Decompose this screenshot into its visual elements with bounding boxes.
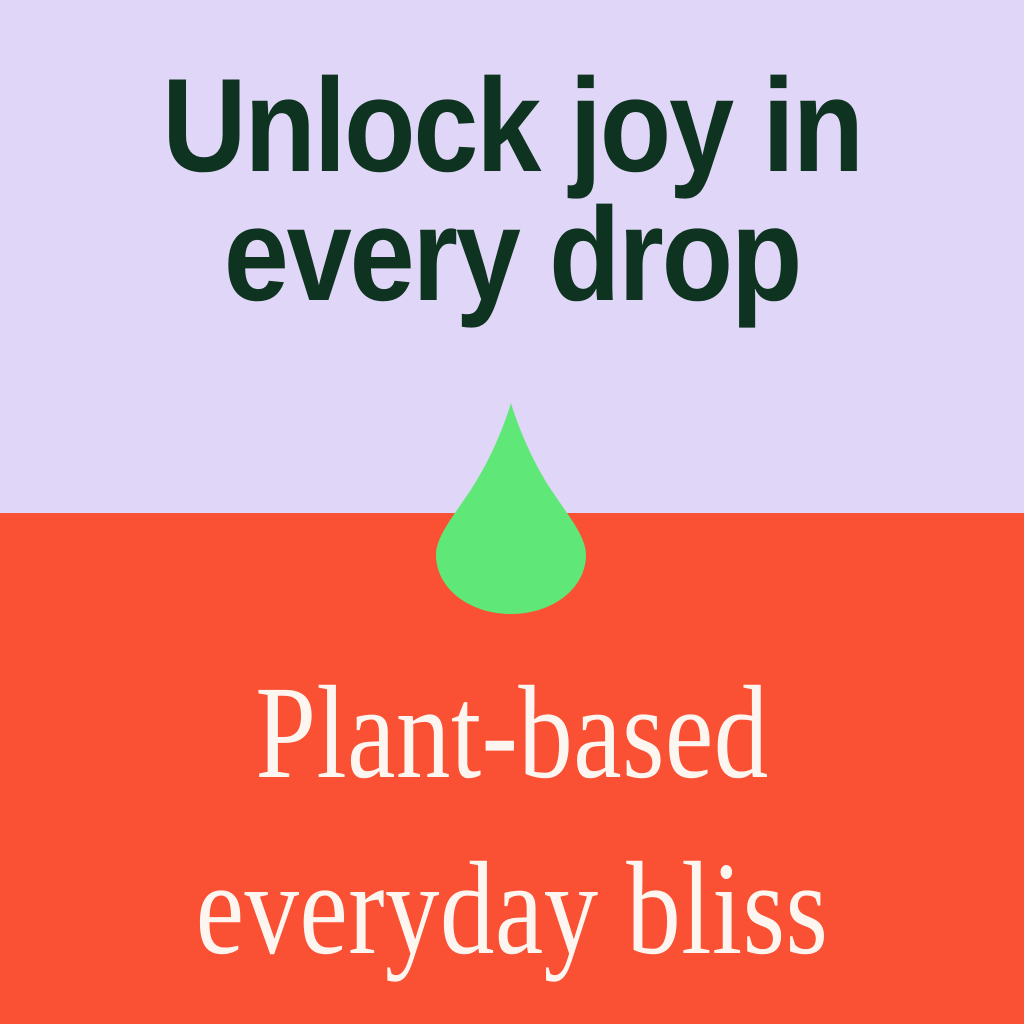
subheadline-line-1: Plant-based [92, 645, 932, 821]
headline-line-2: every drop [61, 191, 962, 320]
headline: Unlock joy in every drop [61, 62, 962, 320]
headline-line-1: Unlock joy in [61, 62, 962, 191]
subheadline-line-2: everyday bliss [92, 821, 932, 997]
poster-canvas: Unlock joy in every drop Plant-based eve… [0, 0, 1024, 1024]
subheadline: Plant-based everyday bliss [92, 645, 932, 996]
water-droplet-icon [436, 403, 586, 614]
